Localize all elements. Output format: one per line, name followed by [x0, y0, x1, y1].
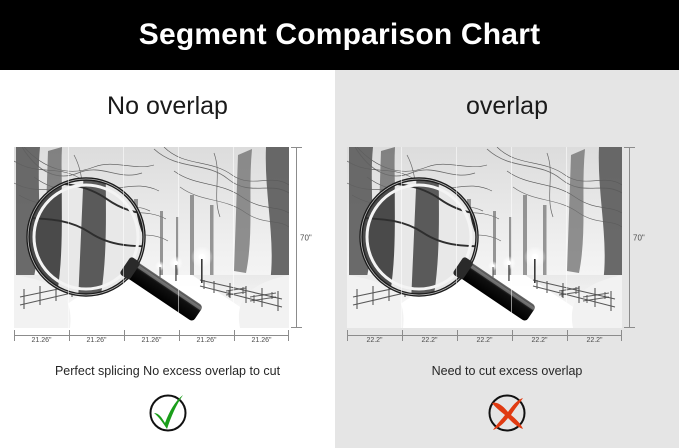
vruler-baseline [296, 147, 297, 328]
panel-heading-overlap: overlap [335, 92, 679, 121]
vruler-baseline [629, 147, 630, 328]
segment-label: 22.2" [402, 337, 457, 344]
vruler-cap-top [291, 147, 302, 148]
segment-label: 22.2" [512, 337, 567, 344]
figure-overlap: 22.2" 22.2" 22.2" 22.2" 22.2" 70" [347, 147, 637, 343]
height-label: 70" [300, 233, 312, 242]
page-title: Segment Comparison Chart [139, 20, 541, 50]
segment-label: 22.2" [347, 337, 402, 344]
horizontal-ruler-no-overlap: 21.26" 21.26" 21.26" 21.26" 21.26" [14, 330, 289, 354]
snow-park-photo-right [347, 147, 622, 328]
verdict-no-overlap [0, 390, 335, 436]
snow-park-photo-left [14, 147, 289, 328]
segment-label: 21.26" [179, 337, 234, 344]
check-icon [145, 390, 191, 436]
cross-icon [484, 390, 530, 436]
panel-overlap: overlap [335, 70, 679, 448]
verdict-overlap [335, 390, 679, 436]
segment-label: 22.2" [567, 337, 622, 344]
segment-label: 21.26" [234, 337, 289, 344]
panel-no-overlap: No overlap [0, 70, 335, 448]
segment-label: 22.2" [457, 337, 512, 344]
vertical-ruler-no-overlap: 70" [291, 147, 317, 328]
panel-heading-no-overlap: No overlap [0, 92, 335, 121]
horizontal-ruler-overlap: 22.2" 22.2" 22.2" 22.2" 22.2" [347, 330, 622, 354]
photo-no-overlap [14, 147, 289, 328]
vruler-cap-bottom [291, 327, 302, 328]
vertical-ruler-overlap: 70" [624, 147, 650, 328]
caption-overlap: Need to cut excess overlap [335, 364, 679, 378]
ruler-baseline [347, 335, 622, 336]
height-label: 70" [633, 233, 645, 242]
figure-no-overlap: 21.26" 21.26" 21.26" 21.26" 21.26" 70" [14, 147, 304, 343]
caption-no-overlap: Perfect splicing No excess overlap to cu… [0, 364, 335, 378]
vruler-cap-bottom [624, 327, 635, 328]
segment-label: 21.26" [14, 337, 69, 344]
segment-label: 21.26" [69, 337, 124, 344]
panels-container: No overlap [0, 70, 679, 448]
photo-overlap [347, 147, 622, 328]
ruler-baseline [14, 335, 289, 336]
segment-label: 21.26" [124, 337, 179, 344]
vruler-cap-top [624, 147, 635, 148]
title-banner: Segment Comparison Chart [0, 0, 679, 70]
comparison-chart-page: Segment Comparison Chart No overlap [0, 0, 679, 448]
